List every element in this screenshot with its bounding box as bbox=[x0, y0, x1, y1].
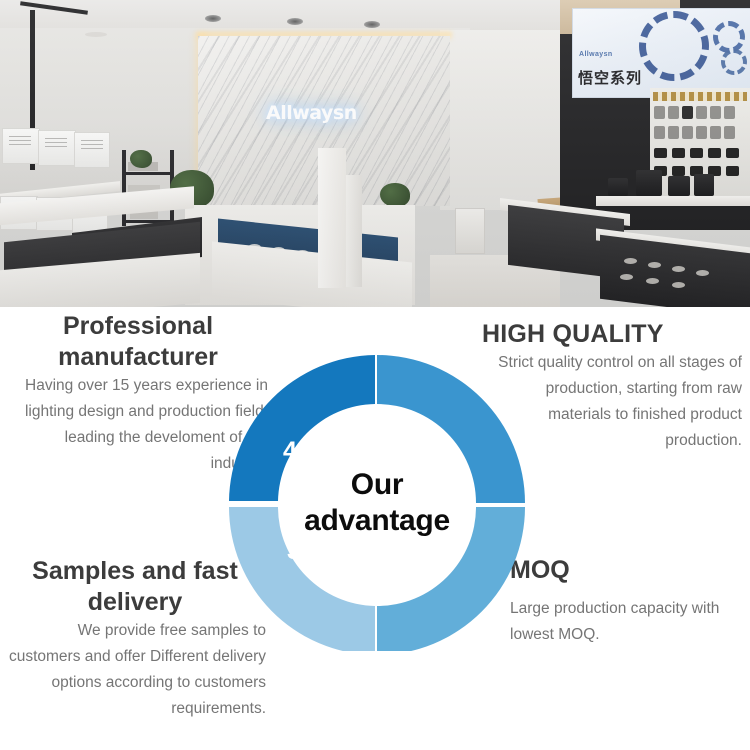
advantage-block-moq: MOQ Large production capacity with lowes… bbox=[510, 555, 750, 648]
advantage-heading-2: MOQ bbox=[510, 555, 750, 586]
donut-segment-2[interactable] bbox=[377, 507, 525, 651]
advantage-heading-3: Samples and fast delivery bbox=[4, 556, 266, 618]
photo-overlay bbox=[0, 0, 750, 307]
donut-number-4: 4 bbox=[283, 437, 297, 466]
advantage-body-2: Large production capacity with lowest MO… bbox=[510, 596, 750, 648]
advantage-donut-chart: 1 2 3 4 Our advantage bbox=[229, 355, 525, 651]
advantage-body-3: We provide free samples to customers and… bbox=[4, 618, 266, 722]
donut-number-2: 2 bbox=[426, 535, 440, 564]
advantage-block-samples-delivery: Samples and fast delivery We provide fre… bbox=[4, 556, 266, 722]
donut-segment-4[interactable] bbox=[229, 355, 375, 501]
showroom-photo: Allwaysn bbox=[0, 0, 750, 307]
donut-number-1: 1 bbox=[429, 439, 443, 468]
advantage-heading-1: HIGH QUALITY bbox=[482, 319, 742, 350]
donut-segment-3[interactable] bbox=[229, 507, 375, 651]
donut-segment-1[interactable] bbox=[377, 355, 525, 503]
advantage-infographic: Professional manufacturer Having over 15… bbox=[0, 307, 750, 750]
page-root: Allwaysn bbox=[0, 0, 750, 750]
donut-svg bbox=[229, 355, 525, 651]
donut-number-3: 3 bbox=[287, 537, 301, 566]
